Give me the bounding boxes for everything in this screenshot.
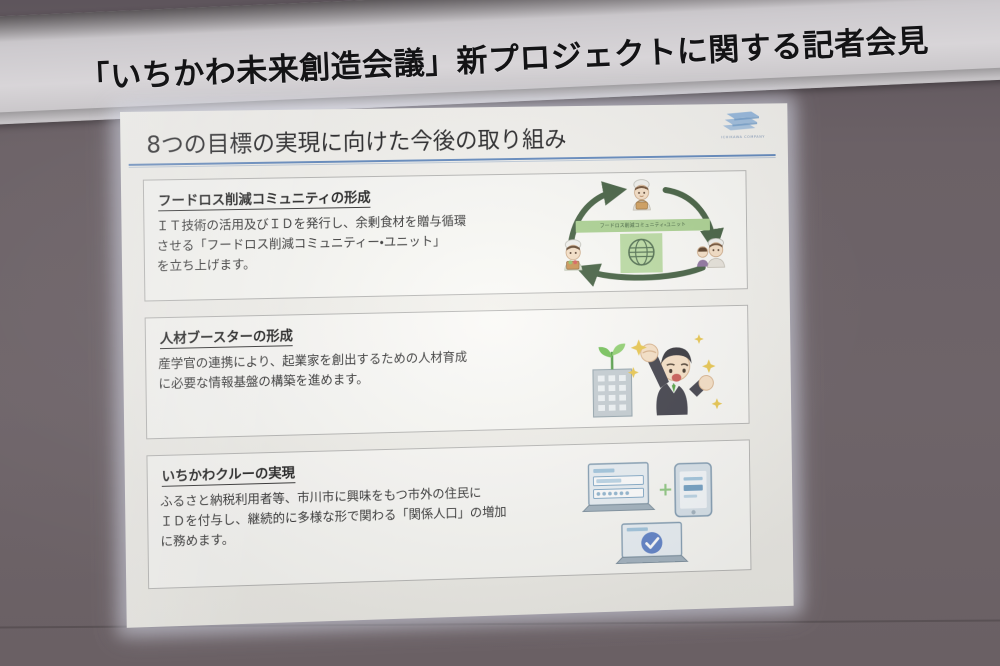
cook-person-icon <box>625 178 658 212</box>
laptop-login-icon <box>583 462 655 511</box>
panel-talent-booster: 人材ブースターの形成 産学官の連携により、起業家を創出するための人材育成 に必要… <box>145 305 750 440</box>
panel-ichikawa-crew: いちかわクルーの実現 ふるさと納税利用者等、市川市に興味をもつ市外の住民に ＩＤ… <box>146 439 751 589</box>
panel-body: 産学官の連携により、起業家を創出するための人材育成 に必要な情報基盤の構築を進め… <box>158 345 551 394</box>
company-logo: ICHIKAWA COMPANY <box>713 109 772 143</box>
building-with-sprout <box>593 343 632 417</box>
panel-heading: いちかわクルーの実現 <box>162 461 296 487</box>
projected-slide-area: 8つの目標の実現に向けた今後の取り組み ICHIKAWA COMPANY フード… <box>120 103 794 628</box>
businessman-raising-fist <box>641 343 714 416</box>
logo-caption: ICHIKAWA COMPANY <box>714 135 773 140</box>
cycle-unit-label: フードロス削減コミュニティ・ユニット <box>576 219 710 233</box>
plus-connector: + <box>658 479 674 501</box>
parent-and-child-icon <box>695 236 728 270</box>
laptop-verified-icon <box>616 522 687 563</box>
panel-food-loss: フードロス削減コミュニティの形成 ＩＴ技術の活用及びＩＤを発行し、余剰食材を贈与… <box>143 170 748 301</box>
two-factor-authentication-illustration: + <box>575 449 737 569</box>
shopper-person-icon <box>557 238 590 272</box>
panel-heading: 人材ブースターの形成 <box>160 324 293 349</box>
slide-title: 8つの目標の実現に向けた今後の取り組み <box>146 118 731 160</box>
food-loss-cycle-diagram: フードロス削減コミュニティ・ユニット <box>550 175 734 288</box>
globe-icon <box>620 233 663 273</box>
panel-heading: フードロス削減コミュニティの形成 <box>158 186 371 211</box>
presentation-slide: 8つの目標の実現に向けた今後の取り組み ICHIKAWA COMPANY フード… <box>120 103 794 628</box>
panel-body: ＩＴ技術の活用及びＩＤを発行し、余剰食材を贈与循環 させる「フードロス削減コミュ… <box>156 210 549 277</box>
smartphone-code-icon <box>675 463 712 517</box>
businessman-sprout-illustration <box>575 312 733 423</box>
panel-body: ふるさと納税利用者等、市川市に興味をもつ市外の住民に ＩＤを付与し、継続的に多様… <box>160 481 553 552</box>
